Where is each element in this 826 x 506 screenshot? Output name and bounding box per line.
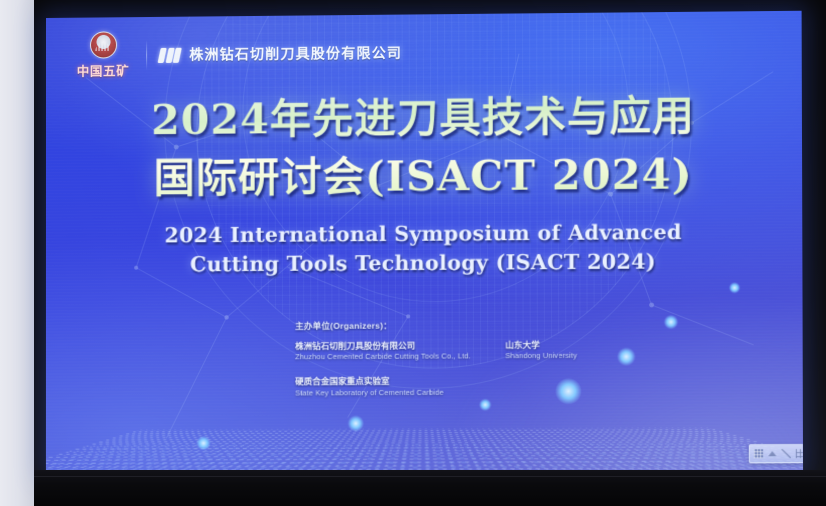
- organizers-heading: 主办单位(Organizers)：: [295, 319, 577, 333]
- company-logo: 株洲钻石切削刀具股份有限公司: [159, 43, 402, 65]
- glow-node: [348, 415, 364, 431]
- glow-node: [664, 315, 678, 329]
- glow-node: [617, 347, 635, 365]
- organizer-name-cn: 株洲钻石切削刀具股份有限公司: [295, 340, 471, 352]
- chinese-title-line1: 2024年先进刀具技术与应用: [46, 86, 802, 151]
- projector-room-photo: 中国五矿 株洲钻石切削刀具股份有限公司 2024年先进刀具技术与应用 国际研讨会…: [0, 0, 826, 506]
- organizer-name-cn: 硬质合金国家重点实验室: [295, 376, 444, 388]
- organizers-row-2: 硬质合金国家重点实验室 State Key Laboratory of Ceme…: [295, 375, 577, 398]
- organizer-name-en: Shandong University: [505, 351, 577, 361]
- below-screen-edge: [34, 476, 826, 477]
- company-name-label: 株洲钻石切削刀具股份有限公司: [189, 43, 402, 65]
- projected-slide: 中国五矿 株洲钻石切削刀具股份有限公司 2024年先进刀具技术与应用 国际研讨会…: [46, 11, 803, 474]
- powerpoint-slideshow-toolbar[interactable]: •••: [749, 444, 803, 464]
- china-minmetals-emblem-icon: [90, 31, 117, 58]
- organizer-name-cn: 山东大学: [505, 340, 577, 352]
- glow-node: [729, 282, 740, 293]
- organizer-item: 硬质合金国家重点实验室 State Key Laboratory of Ceme…: [295, 376, 444, 398]
- organizer-item: 山东大学 Shandong University: [505, 340, 577, 362]
- english-title-line2: Cutting Tools Technology (ISACT 2024): [46, 246, 802, 279]
- minmetals-logo: 中国五矿: [72, 31, 134, 80]
- organizer-name-en: Zhuzhou Cemented Carbide Cutting Tools C…: [295, 352, 471, 363]
- organizers-row-1: 株洲钻石切削刀具股份有限公司 Zhuzhou Cemented Carbide …: [295, 340, 577, 363]
- slide-header: 中国五矿 株洲钻石切削刀具股份有限公司: [72, 29, 402, 80]
- english-title: 2024 International Symposium of Advanced…: [46, 217, 802, 279]
- all-slides-icon[interactable]: [796, 449, 803, 458]
- minmetals-label: 中国五矿: [77, 60, 129, 79]
- organizer-item: 株洲钻石切削刀具股份有限公司 Zhuzhou Cemented Carbide …: [295, 340, 471, 362]
- slide-thumbnail-icon[interactable]: [754, 449, 763, 458]
- chinese-title: 2024年先进刀具技术与应用 国际研讨会(ISACT 2024): [46, 86, 802, 209]
- glow-node: [197, 436, 211, 450]
- glow-node: [479, 399, 491, 411]
- previous-slide-icon[interactable]: [768, 451, 776, 456]
- pen-icon[interactable]: [782, 449, 791, 458]
- chinese-title-line2: 国际研讨会(ISACT 2024): [46, 144, 802, 208]
- organizer-name-en: State Key Laboratory of Cemented Carbide: [295, 388, 444, 399]
- organizers-block: 主办单位(Organizers)： 株洲钻石切削刀具股份有限公司 Zhuzhou…: [295, 319, 577, 399]
- header-divider: [146, 40, 147, 70]
- zcc-logo-mark-icon: [159, 47, 180, 62]
- title-block: 2024年先进刀具技术与应用 国际研讨会(ISACT 2024) 2024 In…: [46, 86, 802, 280]
- wall-left: [0, 0, 34, 506]
